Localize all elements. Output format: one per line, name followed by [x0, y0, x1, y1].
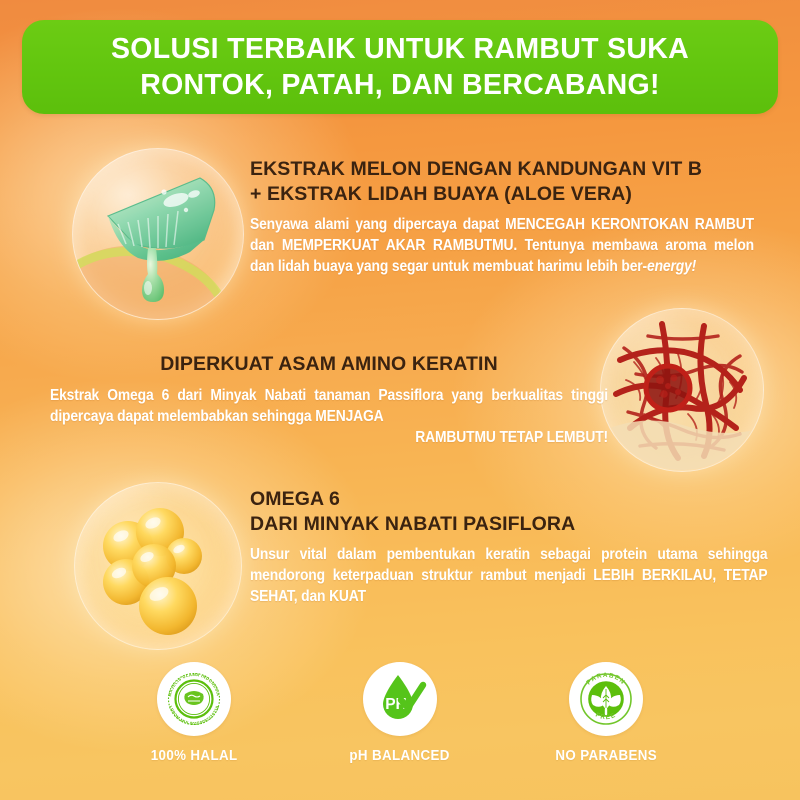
keratin-illustration [600, 308, 764, 472]
section-omega-6-heading-line-1: OMEGA 6 [250, 487, 770, 512]
section-keratin-body-last-line: RAMBUTMU TETAP LEMBUT! [50, 427, 608, 448]
halal-certification-seal-icon: MAJELIS ULAMA INDONESIA LPPOM MUI 001500… [161, 666, 227, 732]
badge-ph-balanced-label: pH BALANCED [350, 748, 450, 764]
product-benefits-infographic: SOLUSI TERBAIK UNTUK RAMBUT SUKA RONTOK,… [0, 0, 800, 800]
paraben-free-leaf-seal-icon: PARABEN FREE [575, 668, 637, 730]
badge-halal-label: 100% HALAL [151, 748, 238, 764]
svg-text:LPPOM MUI 00150097110719: LPPOM MUI 00150097110719 [168, 705, 220, 726]
oil-droplets-icon [74, 482, 242, 650]
headline-line-1: SOLUSI TERBAIK UNTUK RAMBUT SUKA [111, 31, 689, 67]
badge-no-parabens: PARABEN FREE [503, 662, 709, 764]
section-melon-aloe-heading-line-2: + EKSTRAK LIDAH BUAYA (ALOE VERA) [250, 182, 770, 207]
badge-halal: MAJELIS ULAMA INDONESIA LPPOM MUI 001500… [91, 662, 297, 764]
certification-badge-row: MAJELIS ULAMA INDONESIA LPPOM MUI 001500… [0, 662, 800, 764]
section-omega-6-heading-line-2: DARI MINYAK NABATI PASIFLORA [250, 512, 770, 537]
keratin-cell-network-icon [600, 308, 764, 472]
section-melon-aloe-body: Senyawa alami yang dipercaya dapat MENCE… [250, 214, 754, 277]
badge-no-parabens-disc: PARABEN FREE [569, 662, 643, 736]
aloe-leaf-icon [72, 148, 244, 320]
badge-ph-balanced-disc: PH [363, 662, 437, 736]
headline-banner: SOLUSI TERBAIK UNTUK RAMBUT SUKA RONTOK,… [22, 20, 778, 114]
section-melon-aloe-heading-line-1: EKSTRAK MELON DENGAN KANDUNGAN VIT B [250, 157, 770, 182]
badge-no-parabens-label: NO PARABENS [555, 748, 657, 764]
aloe-vera-illustration [72, 148, 244, 320]
section-melon-aloe: EKSTRAK MELON DENGAN KANDUNGAN VIT B + E… [250, 157, 770, 277]
section-keratin-heading: DIPERKUAT ASAM AMINO KERATIN [48, 352, 610, 377]
section-melon-aloe-body-emphasis: energy! [647, 258, 696, 275]
section-keratin: DIPERKUAT ASAM AMINO KERATIN Ekstrak Ome… [48, 352, 610, 448]
badge-halal-disc: MAJELIS ULAMA INDONESIA LPPOM MUI 001500… [157, 662, 231, 736]
ph-balanced-droplet-check-icon: PH [371, 670, 429, 728]
section-omega-6-body: Unsur vital dalam pembentukan keratin se… [250, 544, 768, 607]
badge-ph-balanced: PH pH BALANCED [297, 662, 503, 764]
section-keratin-body: Ekstrak Omega 6 dari Minyak Nabati tanam… [50, 385, 608, 448]
section-keratin-body-text: Ekstrak Omega 6 dari Minyak Nabati tanam… [50, 387, 608, 425]
omega-oil-illustration [74, 482, 242, 650]
section-omega-6: OMEGA 6 DARI MINYAK NABATI PASIFLORA Uns… [250, 487, 770, 607]
headline-line-2: RONTOK, PATAH, DAN BERCABANG! [140, 67, 660, 103]
